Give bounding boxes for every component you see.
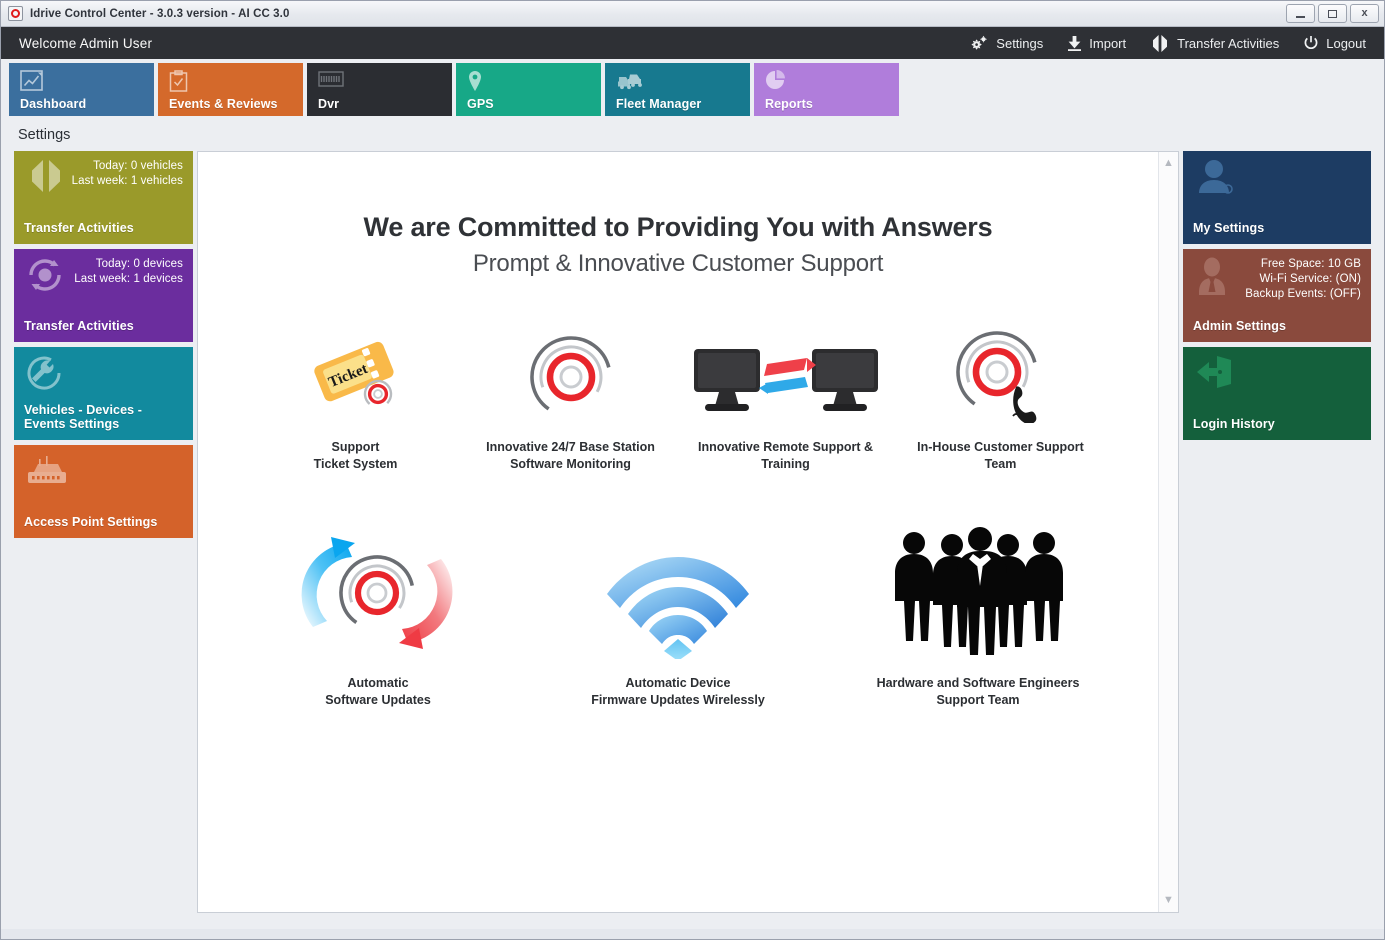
target-phone-icon bbox=[951, 318, 1051, 423]
maximize-button[interactable] bbox=[1318, 4, 1347, 23]
top-actions: Settings Import bbox=[970, 35, 1374, 52]
status-bar bbox=[1, 929, 1384, 939]
tab-events-reviews-label: Events & Reviews bbox=[169, 97, 278, 111]
map-pin-icon bbox=[467, 70, 483, 97]
tab-gps-label: GPS bbox=[467, 97, 494, 111]
feature-hardware-software-engineers: Hardware and Software Engineers Support … bbox=[828, 519, 1128, 709]
card-title: My Settings bbox=[1193, 221, 1361, 235]
card-login-history[interactable]: Login History bbox=[1183, 347, 1371, 440]
feature-caption: Hardware and Software Engineers Support … bbox=[877, 675, 1080, 709]
gears-icon bbox=[970, 35, 989, 52]
dvr-icon bbox=[318, 70, 344, 93]
caption-line-2: Software Monitoring bbox=[510, 457, 631, 471]
caption-line-1: Innovative 24/7 Base Station bbox=[486, 440, 655, 454]
wrench-icon bbox=[26, 355, 64, 396]
card-stat-line: Wi-Fi Service: (ON) bbox=[1193, 272, 1361, 287]
team-silhouette-icon bbox=[878, 519, 1078, 659]
card-title: Admin Settings bbox=[1193, 319, 1361, 333]
import-button-label: Import bbox=[1089, 36, 1126, 51]
feature-caption: In-House Customer Support Team bbox=[917, 439, 1084, 473]
main-vertical-scrollbar[interactable]: ▲ ▼ bbox=[1158, 152, 1178, 912]
remote-screens-icon bbox=[691, 318, 881, 423]
features-row-1: Ticket Support Ticket S bbox=[218, 318, 1138, 473]
caption-line-2: Software Updates bbox=[325, 693, 431, 707]
main-content: We are Committed to Providing You with A… bbox=[198, 152, 1158, 912]
settings-button-label: Settings bbox=[996, 36, 1043, 51]
caption-line-1: Innovative Remote Support & bbox=[698, 440, 873, 454]
card-transfer-activities-devices[interactable]: Today: 0 devices Last week: 1 devices Tr… bbox=[14, 249, 193, 342]
login-door-icon bbox=[1195, 355, 1235, 394]
target-monitor-icon bbox=[525, 318, 617, 423]
feature-caption: Innovative 24/7 Base Station Software Mo… bbox=[486, 439, 655, 473]
title-bar: Idrive Control Center - 3.0.3 version - … bbox=[1, 1, 1384, 27]
caption-line-2: Support Team bbox=[936, 693, 1019, 707]
card-stat-line: Last week: 1 vehicles bbox=[24, 174, 183, 189]
transfer-activities-label: Transfer Activities bbox=[1177, 36, 1279, 51]
tab-reports-label: Reports bbox=[765, 97, 813, 111]
card-stat-line: Free Space: 10 GB bbox=[1193, 257, 1361, 272]
card-my-settings[interactable]: My Settings bbox=[1183, 151, 1371, 244]
tab-dvr-label: Dvr bbox=[318, 97, 339, 111]
tab-fleet-manager[interactable]: Fleet Manager bbox=[605, 63, 750, 116]
logout-button-label: Logout bbox=[1326, 36, 1366, 51]
window-title: Idrive Control Center - 3.0.3 version - … bbox=[30, 8, 289, 20]
card-stat-line: Today: 0 devices bbox=[24, 257, 183, 272]
breadcrumb-label: Settings bbox=[18, 127, 70, 143]
clipboard-check-icon bbox=[169, 70, 188, 97]
main-panel-wrapper: We are Committed to Providing You with A… bbox=[197, 151, 1179, 913]
user-avatar-icon bbox=[1195, 159, 1235, 202]
caption-line-2: Firmware Updates Wirelessly bbox=[591, 693, 765, 707]
feature-support-ticket-system: Ticket Support Ticket S bbox=[248, 318, 463, 473]
card-stat-line: Backup Events: (OFF) bbox=[1193, 287, 1361, 302]
right-sidebar: My Settings Free Space: 10 GB Wi-Fi Serv… bbox=[1179, 151, 1384, 913]
transfer-activities-button[interactable]: Transfer Activities bbox=[1150, 35, 1279, 52]
card-stat-line: Today: 0 vehicles bbox=[24, 159, 183, 174]
tab-reports[interactable]: Reports bbox=[754, 63, 899, 116]
card-title: Transfer Activities bbox=[24, 221, 183, 235]
top-action-bar: Welcome Admin User Settings bbox=[1, 27, 1384, 59]
tab-dashboard-label: Dashboard bbox=[20, 97, 86, 111]
feature-in-house-support-team: In-House Customer Support Team bbox=[893, 318, 1108, 473]
card-title: Transfer Activities bbox=[24, 319, 183, 333]
card-vehicles-devices-events-settings[interactable]: Vehicles - Devices - Events Settings bbox=[14, 347, 193, 440]
chevron-down-icon[interactable]: ▼ bbox=[1163, 895, 1174, 906]
tab-fleet-manager-label: Fleet Manager bbox=[616, 97, 701, 111]
caption-line-2: Ticket System bbox=[314, 457, 398, 471]
caption-line-1: Support bbox=[332, 440, 380, 454]
caption-line-1: In-House Customer Support bbox=[917, 440, 1084, 454]
download-icon bbox=[1067, 35, 1082, 51]
support-ticket-icon: Ticket bbox=[306, 318, 406, 423]
card-stats: Today: 0 devices Last week: 1 devices bbox=[24, 257, 183, 287]
breadcrumb: Settings bbox=[1, 119, 1384, 151]
import-button[interactable]: Import bbox=[1067, 35, 1126, 51]
router-icon bbox=[26, 453, 68, 492]
feature-automatic-software-updates: Automatic Software Updates bbox=[228, 519, 528, 709]
window-controls: x bbox=[1286, 4, 1379, 23]
feature-caption: Automatic Software Updates bbox=[325, 675, 431, 709]
features-row-2: Automatic Software Updates bbox=[218, 519, 1138, 709]
left-sidebar: Today: 0 vehicles Last week: 1 vehicles … bbox=[1, 151, 197, 913]
application-window: Idrive Control Center - 3.0.3 version - … bbox=[0, 0, 1385, 940]
tab-dashboard[interactable]: Dashboard bbox=[9, 63, 154, 116]
close-button[interactable]: x bbox=[1350, 4, 1379, 23]
tab-gps[interactable]: GPS bbox=[456, 63, 601, 116]
card-access-point-settings[interactable]: Access Point Settings bbox=[14, 445, 193, 538]
feature-base-station-monitoring: Innovative 24/7 Base Station Software Mo… bbox=[463, 318, 678, 473]
caption-line-1: Automatic Device bbox=[626, 676, 731, 690]
welcome-text: Welcome Admin User bbox=[19, 36, 152, 51]
card-stats: Free Space: 10 GB Wi-Fi Service: (ON) Ba… bbox=[1193, 257, 1361, 302]
feature-remote-support-training: Innovative Remote Support & Training bbox=[678, 318, 893, 473]
card-admin-settings[interactable]: Free Space: 10 GB Wi-Fi Service: (ON) Ba… bbox=[1183, 249, 1371, 342]
power-icon bbox=[1303, 35, 1319, 51]
chart-trend-icon bbox=[20, 70, 43, 96]
main-nav-tabs: Dashboard Events & Reviews Dvr GPS bbox=[1, 59, 1384, 119]
settings-button[interactable]: Settings bbox=[970, 35, 1043, 52]
card-transfer-activities-vehicles[interactable]: Today: 0 vehicles Last week: 1 vehicles … bbox=[14, 151, 193, 244]
wifi-signal-icon bbox=[603, 519, 753, 659]
feature-caption: Support Ticket System bbox=[314, 439, 398, 473]
vehicles-icon bbox=[616, 70, 643, 95]
pie-chart-icon bbox=[765, 70, 786, 96]
minimize-button[interactable] bbox=[1286, 4, 1315, 23]
close-icon: x bbox=[1361, 8, 1367, 19]
minimize-icon bbox=[1296, 16, 1305, 18]
app-icon bbox=[8, 6, 23, 21]
logout-button[interactable]: Logout bbox=[1303, 35, 1366, 51]
feature-caption: Automatic Device Firmware Updates Wirele… bbox=[591, 675, 765, 709]
caption-line-2: Training bbox=[761, 457, 810, 471]
page-body: Today: 0 vehicles Last week: 1 vehicles … bbox=[1, 151, 1384, 929]
card-title: Access Point Settings bbox=[24, 515, 183, 529]
card-stats: Today: 0 vehicles Last week: 1 vehicles bbox=[24, 159, 183, 189]
page-subheadline: Prompt & Innovative Customer Support bbox=[218, 250, 1138, 278]
page-headline: We are Committed to Providing You with A… bbox=[218, 212, 1138, 243]
card-title: Vehicles - Devices - Events Settings bbox=[24, 403, 183, 431]
feature-caption: Innovative Remote Support & Training bbox=[698, 439, 873, 473]
card-stat-line: Last week: 1 devices bbox=[24, 272, 183, 287]
tab-dvr[interactable]: Dvr bbox=[307, 63, 452, 116]
maximize-icon bbox=[1328, 10, 1337, 18]
card-title: Login History bbox=[1193, 417, 1361, 431]
feature-firmware-updates-wirelessly: Automatic Device Firmware Updates Wirele… bbox=[528, 519, 828, 709]
update-cycle-icon bbox=[291, 519, 466, 659]
caption-line-1: Hardware and Software Engineers bbox=[877, 676, 1080, 690]
transfer-arrows-icon bbox=[1150, 35, 1170, 52]
tab-events-reviews[interactable]: Events & Reviews bbox=[158, 63, 303, 116]
caption-line-2: Team bbox=[985, 457, 1017, 471]
caption-line-1: Automatic bbox=[347, 676, 408, 690]
chevron-up-icon[interactable]: ▲ bbox=[1163, 158, 1174, 169]
